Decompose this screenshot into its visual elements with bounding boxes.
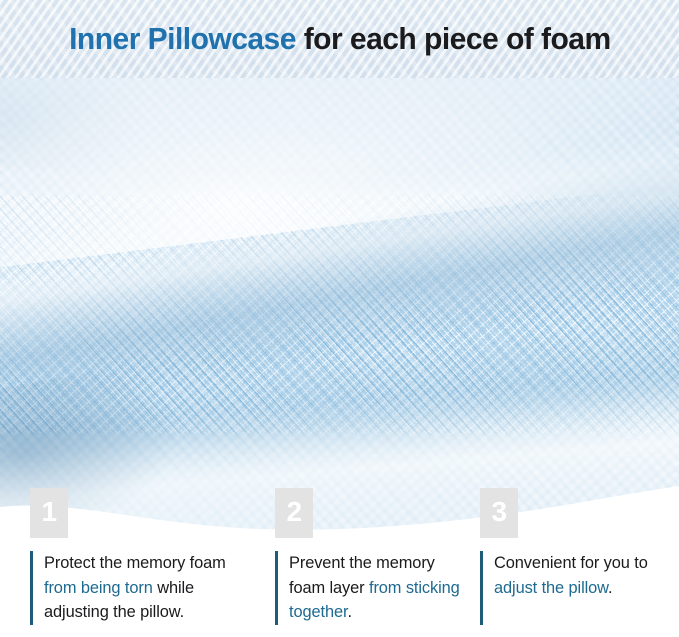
feature-number-2: 2 — [286, 498, 301, 526]
feature-text-2-after: . — [347, 603, 351, 621]
feature-list: 1 Protect the memory foam from being tor… — [0, 0, 679, 637]
feature-text-1: Protect the memory foam from being torn … — [44, 551, 260, 625]
feature-item-2: 2 Prevent the memory foam layer from sti… — [275, 488, 313, 538]
feature-text-1-before: Protect the memory foam — [44, 554, 226, 572]
feature-badge-3: 3 — [480, 488, 518, 538]
feature-item-1: 1 Protect the memory foam from being tor… — [30, 488, 68, 538]
feature-body-1: Protect the memory foam from being torn … — [30, 551, 260, 625]
feature-text-3-highlight: adjust the pillow — [494, 579, 608, 597]
feature-body-3: Convenient for you to adjust the pillow. — [480, 551, 679, 625]
feature-body-2: Prevent the memory foam layer from stick… — [275, 551, 474, 625]
feature-text-3-before: Convenient for you to — [494, 554, 648, 572]
feature-rule-3 — [480, 551, 483, 625]
promo-banner: Inner Pillowcase for each piece of foam … — [0, 0, 679, 637]
feature-text-2: Prevent the memory foam layer from stick… — [289, 551, 474, 625]
feature-text-3: Convenient for you to adjust the pillow. — [494, 551, 679, 625]
feature-text-1-highlight: from being torn — [44, 579, 153, 597]
feature-number-1: 1 — [41, 498, 56, 526]
feature-number-3: 3 — [491, 498, 506, 526]
feature-item-3: 3 Convenient for you to adjust the pillo… — [480, 488, 518, 538]
feature-badge-2: 2 — [275, 488, 313, 538]
feature-rule-1 — [30, 551, 33, 625]
feature-badge-1: 1 — [30, 488, 68, 538]
feature-rule-2 — [275, 551, 278, 625]
feature-text-3-after: . — [608, 579, 612, 597]
